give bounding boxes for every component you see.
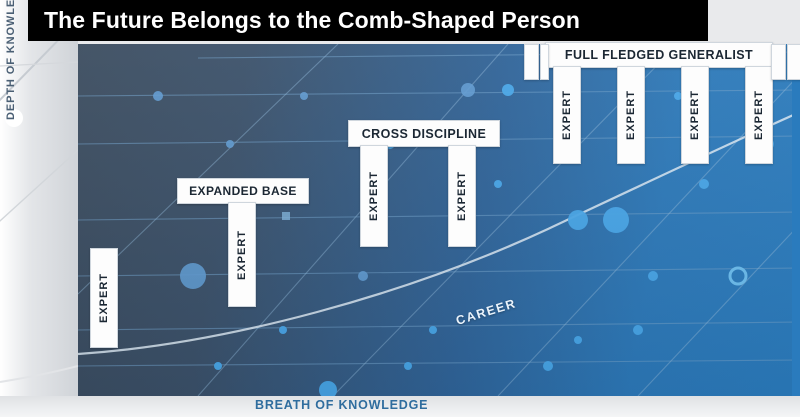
stem-label: EXPERT (689, 90, 701, 140)
y-axis-label: DEPTH OF KNOWLEDGE (5, 0, 17, 120)
comb-cross-discipline-stem-2: EXPERT (448, 145, 476, 247)
comb-single-expert-stem-1: EXPERT (90, 248, 118, 348)
comb-full-fledged-generalist-stem-4: EXPERT (745, 66, 773, 164)
stem-label: EXPERT (98, 273, 110, 323)
comb-cross-discipline-stem-1: EXPERT (360, 145, 388, 247)
stem-label: EXPERT (368, 171, 380, 221)
page-title: The Future Belongs to the Comb-Shaped Pe… (44, 7, 580, 34)
slide-canvas: DEPTH OF KNOWLEDGE BREATH OF KNOWLEDGE C… (0, 0, 800, 417)
comb-full-fledged-generalist-stem-3: EXPERT (681, 66, 709, 164)
comb-cross-discipline-cap: CROSS DISCIPLINE (348, 120, 500, 147)
partial-bar-right-2 (787, 44, 800, 80)
comb-expanded-base-stem-1: EXPERT (228, 202, 256, 307)
partial-bar-left-2 (540, 44, 549, 80)
stem-label: EXPERT (753, 90, 765, 140)
partial-bar-right-1 (771, 44, 786, 80)
slide-title-bar: The Future Belongs to the Comb-Shaped Pe… (28, 0, 708, 41)
comb-full-fledged-generalist-cap: FULL FLEDGED GENERALIST (545, 42, 773, 68)
x-axis-label: BREATH OF KNOWLEDGE (255, 398, 428, 412)
stem-label: EXPERT (625, 90, 637, 140)
stem-label: EXPERT (456, 171, 468, 221)
comb-expanded-base-cap: EXPANDED BASE (177, 178, 309, 204)
stem-label: EXPERT (561, 90, 573, 140)
comb-full-fledged-generalist-stem-1: EXPERT (553, 66, 581, 164)
right-edge-strip (792, 44, 800, 396)
partial-bar-left-1 (524, 44, 539, 80)
stem-label: EXPERT (236, 229, 248, 279)
comb-full-fledged-generalist-stem-2: EXPERT (617, 66, 645, 164)
